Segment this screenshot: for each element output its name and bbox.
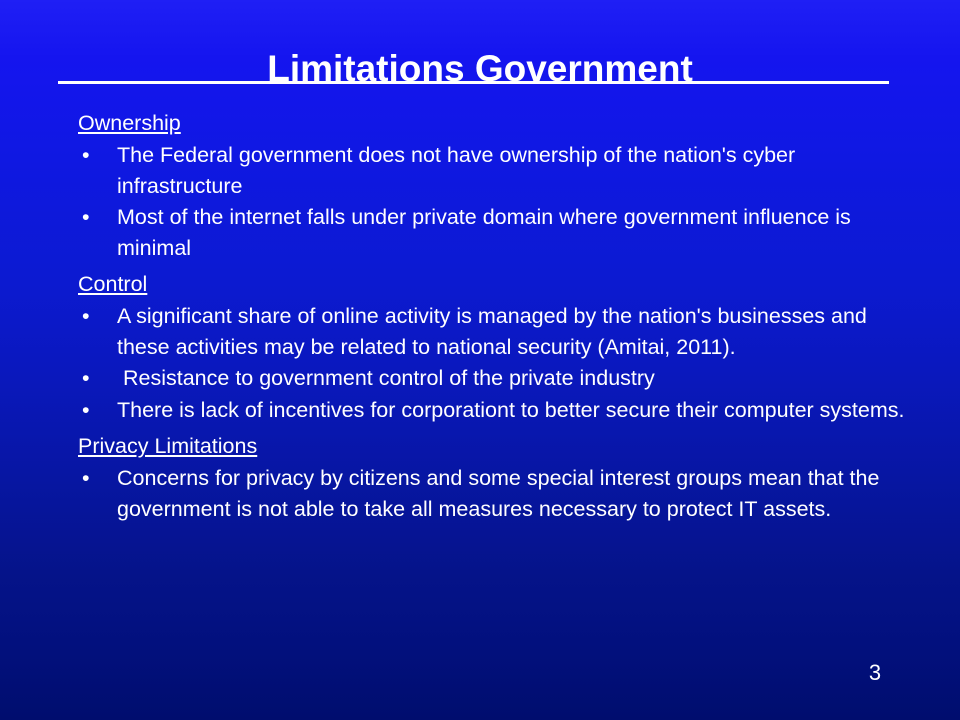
bullet-item: • Resistance to government control of th… [78,363,908,394]
slide-body: Ownership•The Federal government does no… [78,108,908,525]
section-heading: Privacy Limitations [78,431,908,461]
bullet-text: Resistance to government control of the … [117,363,908,394]
bullet-point-icon: • [78,140,117,171]
section-heading: Control [78,269,908,299]
bullet-text: The Federal government does not have own… [117,140,908,201]
bullet-item: •Concerns for privacy by citizens and so… [78,463,908,524]
slide-title-block: Limitations Government [0,22,960,116]
bullet-text: Most of the internet falls under private… [117,202,908,263]
section-heading-label: Control [78,272,147,296]
section-heading: Ownership [78,108,908,138]
bullet-item: •There is lack of incentives for corpora… [78,395,908,426]
bullet-text: There is lack of incentives for corporat… [117,395,908,426]
presentation-slide: Limitations Government Ownership•The Fed… [0,0,960,720]
bullet-point-icon: • [78,301,117,332]
bullet-item: •A significant share of online activity … [78,301,908,362]
bullet-point-icon: • [78,202,117,233]
bullet-point-icon: • [78,363,117,394]
bullet-item: •Most of the internet falls under privat… [78,202,908,263]
bullet-text: Concerns for privacy by citizens and som… [117,463,908,524]
title-divider [58,81,889,84]
bullet-point-icon: • [78,395,117,426]
slide-number: 3 [860,660,890,686]
section-heading-label: Privacy Limitations [78,434,257,458]
bullet-item: •The Federal government does not have ow… [78,140,908,201]
page-title: Limitations Government [267,47,693,91]
bullet-point-icon: • [78,463,117,494]
section-heading-label: Ownership [78,111,181,135]
bullet-text: A significant share of online activity i… [117,301,908,362]
